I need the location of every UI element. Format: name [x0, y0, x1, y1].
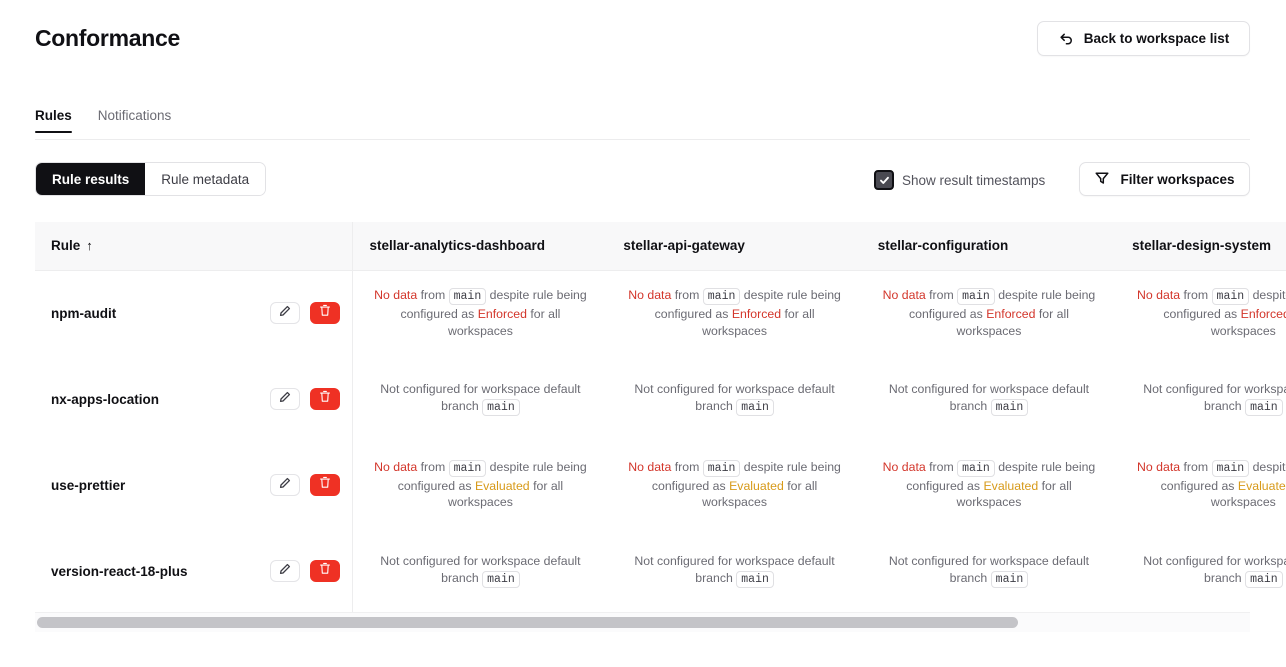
- delete-rule-button[interactable]: [310, 302, 340, 324]
- result-cell: Not configured for workspace default bra…: [607, 356, 861, 442]
- filter-workspaces-button[interactable]: Filter workspaces: [1079, 162, 1250, 196]
- rule-cell: npm-audit: [35, 270, 353, 356]
- severity-evaluated-label: Evaluated: [475, 479, 530, 493]
- delete-rule-button[interactable]: [310, 388, 340, 410]
- severity-enforced-label: Enforced: [478, 307, 527, 321]
- tab-notifications[interactable]: Notifications: [85, 108, 185, 132]
- rule-name: nx-apps-location: [51, 392, 159, 407]
- edit-pencil-icon: [279, 390, 291, 408]
- branch-chip: main: [1212, 288, 1250, 305]
- branch-chip: main: [1245, 571, 1283, 588]
- rule-actions: [270, 388, 340, 410]
- result-cell: Not configured for workspace default bra…: [1116, 528, 1286, 612]
- back-arrow-icon: [1058, 30, 1075, 47]
- rule-actions: [270, 302, 340, 324]
- cell-text: from: [675, 288, 700, 302]
- severity-enforced-label: Enforced: [986, 307, 1035, 321]
- result-cell: No data from main despite rule being con…: [353, 270, 607, 356]
- result-cell: No data from main despite rule being con…: [1116, 442, 1286, 528]
- sort-ascending-icon: ↑: [86, 238, 93, 253]
- conformance-page: Conformance Back to workspace list Rules…: [0, 0, 1286, 667]
- result-cell: No data from main despite rule being con…: [1116, 270, 1286, 356]
- branch-chip: main: [957, 460, 995, 477]
- cell-text: from: [929, 460, 954, 474]
- horizontal-scrollbar-thumb[interactable]: [37, 617, 1018, 628]
- no-data-label: No data: [883, 288, 926, 302]
- severity-evaluated-label: Evaluated: [729, 479, 784, 493]
- result-cell: Not configured for workspace default bra…: [862, 356, 1116, 442]
- edit-pencil-icon: [279, 304, 291, 322]
- back-to-workspace-list-button[interactable]: Back to workspace list: [1037, 21, 1250, 56]
- delete-rule-button[interactable]: [310, 474, 340, 496]
- column-header-workspace-1[interactable]: stellar-api-gateway: [607, 222, 861, 270]
- cell-text: Not configured for workspace default bra…: [634, 382, 834, 413]
- result-cell: No data from main despite rule being con…: [862, 270, 1116, 356]
- rule-actions: [270, 560, 340, 582]
- column-header-rule-label: Rule: [51, 238, 80, 253]
- edit-rule-button[interactable]: [270, 474, 300, 496]
- tab-bar: Rules Notifications: [35, 108, 1250, 140]
- edit-pencil-icon: [279, 562, 291, 580]
- column-header-workspace-0[interactable]: stellar-analytics-dashboard: [353, 222, 607, 270]
- filter-funnel-icon: [1094, 170, 1110, 189]
- cell-text: Not configured for workspace default bra…: [380, 554, 580, 585]
- page-title: Conformance: [35, 25, 180, 52]
- rule-results-table-scroll-area[interactable]: Rule↑ stellar-analytics-dashboard stella…: [35, 222, 1286, 612]
- delete-trash-icon: [319, 304, 331, 322]
- column-header-workspace-2[interactable]: stellar-configuration: [862, 222, 1116, 270]
- cell-text: Not configured for workspace default bra…: [889, 554, 1089, 585]
- rule-name: use-prettier: [51, 478, 125, 493]
- table-row: use-prettierNo data from main despite ru…: [35, 442, 1286, 528]
- rule-results-table: Rule↑ stellar-analytics-dashboard stella…: [35, 222, 1286, 612]
- branch-chip: main: [703, 460, 741, 477]
- cell-text: Not configured for workspace default bra…: [380, 382, 580, 413]
- delete-trash-icon: [319, 562, 331, 580]
- table-row: nx-apps-locationNot configured for works…: [35, 356, 1286, 442]
- table-header-row: Rule↑ stellar-analytics-dashboard stella…: [35, 222, 1286, 270]
- branch-chip: main: [449, 460, 487, 477]
- result-cell: No data from main despite rule being con…: [353, 442, 607, 528]
- show-result-timestamps-control[interactable]: Show result timestamps: [874, 170, 1045, 190]
- branch-chip: main: [957, 288, 995, 305]
- table-row: version-react-18-plusNot configured for …: [35, 528, 1286, 612]
- branch-chip: main: [1212, 460, 1250, 477]
- no-data-label: No data: [374, 460, 417, 474]
- result-cell: Not configured for workspace default bra…: [607, 528, 861, 612]
- table-body: npm-auditNo data from main despite rule …: [35, 270, 1286, 612]
- result-cell: No data from main despite rule being con…: [607, 442, 861, 528]
- show-timestamps-checkbox[interactable]: [874, 170, 894, 190]
- view-mode-segmented-control: Rule results Rule metadata: [35, 162, 266, 196]
- table-head: Rule↑ stellar-analytics-dashboard stella…: [35, 222, 1286, 270]
- edit-rule-button[interactable]: [270, 388, 300, 410]
- result-cell: Not configured for workspace default bra…: [862, 528, 1116, 612]
- segment-rule-results[interactable]: Rule results: [36, 163, 145, 195]
- severity-enforced-label: Enforced: [1241, 307, 1286, 321]
- no-data-label: No data: [628, 460, 671, 474]
- cell-text: Not configured for workspace default bra…: [634, 554, 834, 585]
- rule-name: version-react-18-plus: [51, 564, 188, 579]
- show-timestamps-label: Show result timestamps: [902, 173, 1045, 188]
- rule-cell: nx-apps-location: [35, 356, 353, 442]
- cell-text: from: [929, 288, 954, 302]
- branch-chip: main: [1245, 399, 1283, 416]
- branch-chip: main: [449, 288, 487, 305]
- branch-chip: main: [703, 288, 741, 305]
- checkmark-icon: [879, 175, 890, 186]
- branch-chip: main: [736, 571, 774, 588]
- severity-evaluated-label: Evaluated: [983, 479, 1038, 493]
- result-cell: Not configured for workspace default bra…: [353, 528, 607, 612]
- filter-workspaces-label: Filter workspaces: [1120, 172, 1234, 187]
- cell-text: from: [421, 460, 446, 474]
- page-header: Conformance Back to workspace list: [0, 0, 1286, 86]
- branch-chip: main: [482, 399, 520, 416]
- segment-rule-metadata[interactable]: Rule metadata: [145, 163, 265, 195]
- edit-rule-button[interactable]: [270, 302, 300, 324]
- branch-chip: main: [482, 571, 520, 588]
- table-row: npm-auditNo data from main despite rule …: [35, 270, 1286, 356]
- delete-trash-icon: [319, 390, 331, 408]
- rule-cell: version-react-18-plus: [35, 528, 353, 612]
- branch-chip: main: [736, 399, 774, 416]
- no-data-label: No data: [628, 288, 671, 302]
- horizontal-scrollbar-track[interactable]: [35, 612, 1250, 632]
- cell-text: from: [675, 460, 700, 474]
- no-data-label: No data: [374, 288, 417, 302]
- result-cell: Not configured for workspace default bra…: [1116, 356, 1286, 442]
- no-data-label: No data: [1137, 460, 1180, 474]
- branch-chip: main: [991, 399, 1029, 416]
- back-button-label: Back to workspace list: [1084, 31, 1230, 46]
- edit-rule-button[interactable]: [270, 560, 300, 582]
- result-cell: Not configured for workspace default bra…: [353, 356, 607, 442]
- delete-rule-button[interactable]: [310, 560, 340, 582]
- edit-pencil-icon: [279, 476, 291, 494]
- delete-trash-icon: [319, 476, 331, 494]
- rule-name: npm-audit: [51, 306, 116, 321]
- no-data-label: No data: [883, 460, 926, 474]
- branch-chip: main: [991, 571, 1029, 588]
- cell-text: from: [1184, 460, 1209, 474]
- column-header-rule[interactable]: Rule↑: [35, 222, 353, 270]
- cell-text: from: [1184, 288, 1209, 302]
- column-header-workspace-3[interactable]: stellar-design-system: [1116, 222, 1286, 270]
- tab-rules[interactable]: Rules: [35, 108, 85, 132]
- rule-cell: use-prettier: [35, 442, 353, 528]
- rule-actions: [270, 474, 340, 496]
- no-data-label: No data: [1137, 288, 1180, 302]
- cell-text: Not configured for workspace default bra…: [889, 382, 1089, 413]
- result-cell: No data from main despite rule being con…: [862, 442, 1116, 528]
- severity-enforced-label: Enforced: [732, 307, 781, 321]
- severity-evaluated-label: Evaluated: [1238, 479, 1286, 493]
- cell-text: from: [421, 288, 446, 302]
- result-cell: No data from main despite rule being con…: [607, 270, 861, 356]
